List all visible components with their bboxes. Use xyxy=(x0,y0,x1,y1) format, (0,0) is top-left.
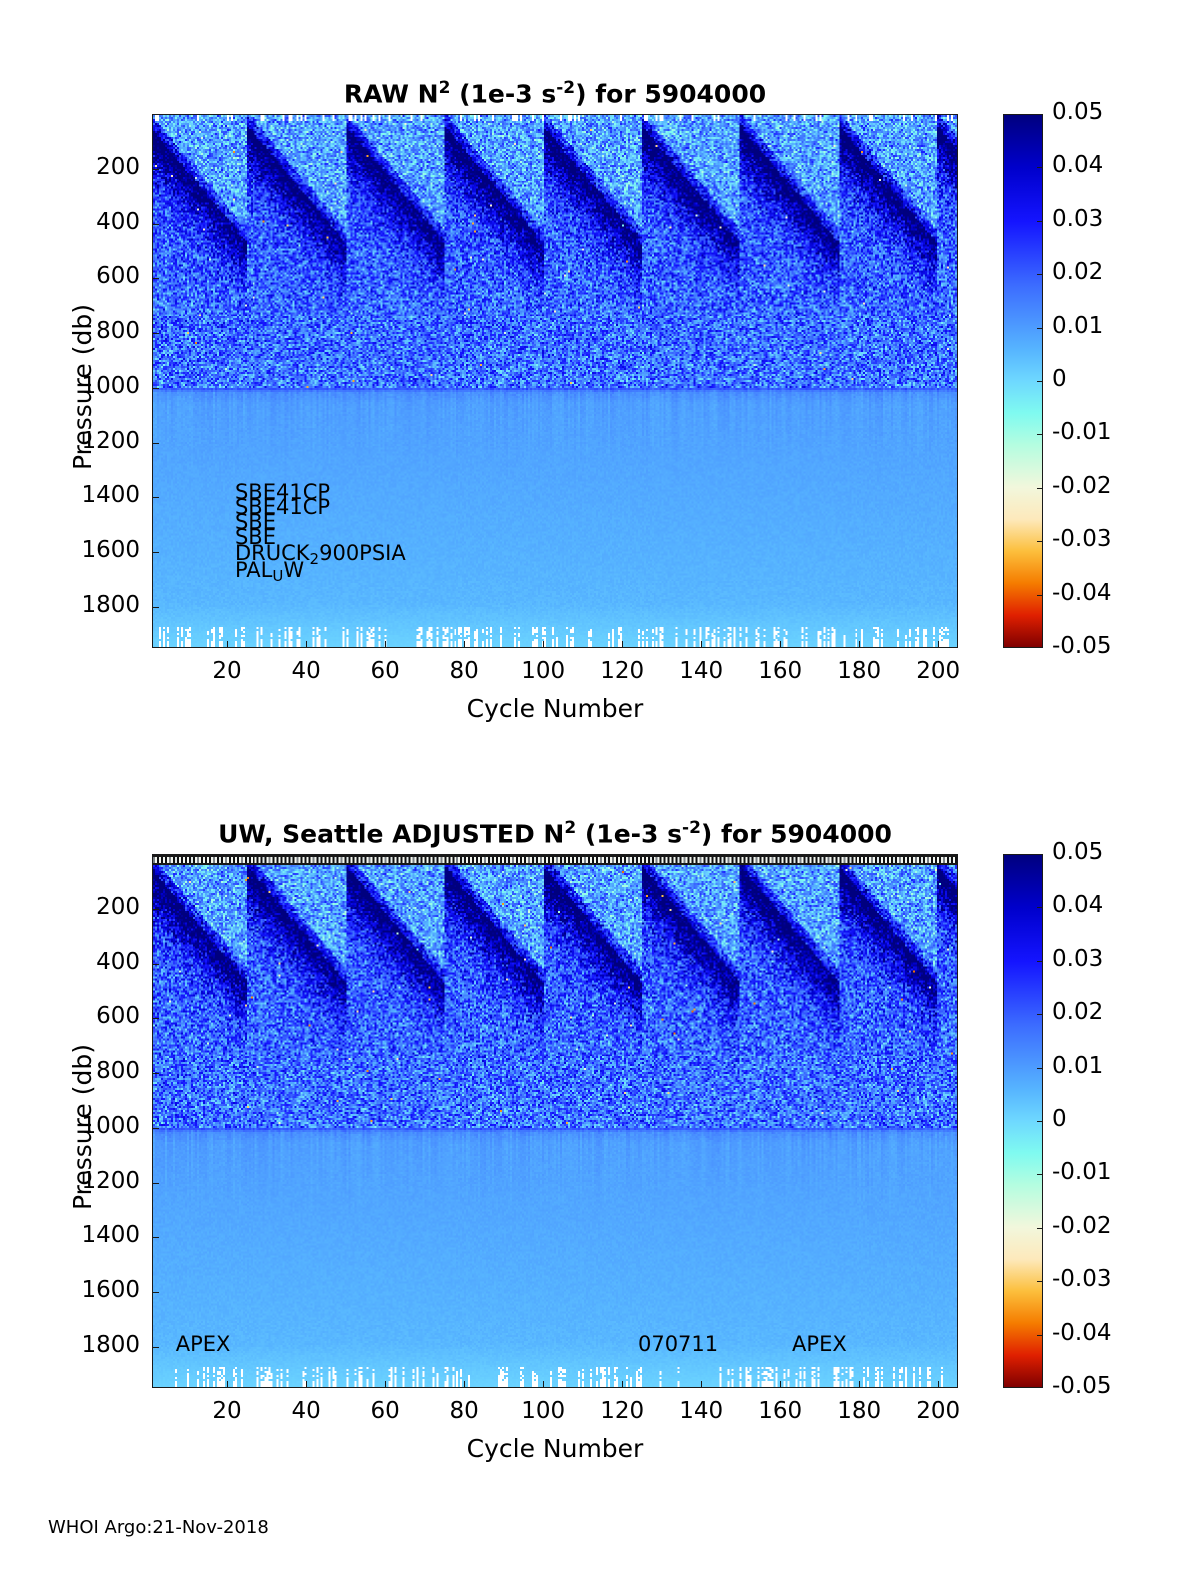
title-sup-n2: 2 xyxy=(439,78,451,98)
x-axis-tickmark xyxy=(227,1381,228,1388)
plot-annotation: PALUW xyxy=(235,558,304,585)
colorbar-tickmark xyxy=(1037,1121,1043,1122)
y-axis-tickmark xyxy=(152,1183,159,1184)
x-axis-label-raw: Cycle Number xyxy=(152,694,958,723)
title-tail: ) for 5904000 xyxy=(701,819,892,848)
colorbar-tickmark xyxy=(1037,488,1043,489)
x-axis-tickmark xyxy=(464,1381,465,1388)
annotation-text: 070711 xyxy=(638,1332,718,1356)
y-axis-tickmark xyxy=(152,964,159,965)
colorbar-tick-label: -0.01 xyxy=(1052,419,1112,445)
y-axis-tick-label: 1200 xyxy=(0,1168,140,1194)
annotation-text: APEX xyxy=(176,1332,231,1356)
colorbar-tick-label: 0.04 xyxy=(1052,892,1103,918)
heatmap-canvas-adjusted xyxy=(153,855,957,1387)
annotation-text: PAL xyxy=(235,558,272,582)
annotation-subscript: 2 xyxy=(310,550,320,568)
y-axis-tickmark xyxy=(152,388,159,389)
plot-annotation: APEX xyxy=(792,1332,847,1356)
y-axis-tickmark xyxy=(152,278,159,279)
plot-title-adjusted: UW, Seattle ADJUSTED N2 (1e-3 s-2) for 5… xyxy=(152,818,958,848)
x-axis-tickmark xyxy=(543,641,544,648)
colorbar-tick-label: -0.04 xyxy=(1052,1320,1112,1346)
y-axis-tick-label: 600 xyxy=(0,1003,140,1029)
annotation-tail: 900PSIA xyxy=(319,541,406,565)
x-axis-tickmark xyxy=(701,1381,702,1388)
colorbar-tickmark xyxy=(1037,1228,1043,1229)
colorbar-tickmark xyxy=(1037,595,1043,596)
x-axis-tickmark xyxy=(780,1381,781,1388)
x-axis-tickmark xyxy=(701,641,702,648)
panel-adjusted: UW, Seattle ADJUSTED N2 (1e-3 s-2) for 5… xyxy=(0,740,1200,1500)
x-axis-label-adjusted: Cycle Number xyxy=(152,1434,958,1463)
y-axis-tick-label: 1400 xyxy=(0,1222,140,1248)
title-sup-s2: -2 xyxy=(556,78,575,98)
y-axis-tick-label: 400 xyxy=(0,209,140,235)
annotation-subscript: U xyxy=(272,566,283,584)
x-axis-tickmark xyxy=(780,641,781,648)
title-tail: ) for 5904000 xyxy=(575,79,766,108)
x-axis-tickmark xyxy=(622,641,623,648)
colorbar-tick-label: -0.02 xyxy=(1052,1213,1112,1239)
y-axis-tick-label: 800 xyxy=(0,318,140,344)
colorbar-tickmark xyxy=(1037,541,1043,542)
x-axis-tickmark xyxy=(938,1381,939,1388)
y-axis-tick-label: 400 xyxy=(0,949,140,975)
y-axis-tickmark xyxy=(152,1347,159,1348)
x-axis-tickmark xyxy=(938,641,939,648)
colorbar-tick-label: 0.04 xyxy=(1052,152,1103,178)
y-axis-tick-label: 200 xyxy=(0,154,140,180)
title-main: RAW N xyxy=(344,79,439,108)
y-axis-tickmark xyxy=(152,443,159,444)
colorbar-tick-label: 0 xyxy=(1052,366,1067,392)
y-axis-tickmark xyxy=(152,224,159,225)
colorbar-tickmark xyxy=(1037,274,1043,275)
plot-annotation: 070711 xyxy=(638,1332,718,1356)
plot-title-raw: RAW N2 (1e-3 s-2) for 5904000 xyxy=(152,78,958,108)
x-axis-tick-label: 200 xyxy=(888,1398,988,1424)
title-mid: (1e-3 s xyxy=(576,819,682,848)
footer-credit: WHOI Argo:21-Nov-2018 xyxy=(48,1517,269,1538)
colorbar-tick-label: -0.04 xyxy=(1052,580,1112,606)
y-axis-tickmark xyxy=(152,169,159,170)
annotation-text: APEX xyxy=(792,1332,847,1356)
colorbar-tickmark xyxy=(1037,1068,1043,1069)
y-axis-tick-label: 600 xyxy=(0,263,140,289)
y-axis-tick-label: 1600 xyxy=(0,1277,140,1303)
colorbar-tick-label: -0.02 xyxy=(1052,473,1112,499)
x-axis-tickmark xyxy=(543,1381,544,1388)
y-axis-tick-label: 1800 xyxy=(0,592,140,618)
colorbar-tickmark xyxy=(1037,961,1043,962)
colorbar-tick-label: 0.02 xyxy=(1052,999,1103,1025)
y-axis-tick-label: 1400 xyxy=(0,482,140,508)
colorbar-tickmark xyxy=(1037,1014,1043,1015)
colorbar-tickmark xyxy=(1037,1174,1043,1175)
colorbar-tickmark xyxy=(1037,167,1043,168)
x-axis-tickmark xyxy=(306,1381,307,1388)
colorbar-tickmark xyxy=(1037,381,1043,382)
y-axis-tick-label: 1200 xyxy=(0,428,140,454)
x-axis-tickmark xyxy=(622,1381,623,1388)
colorbar-tickmark xyxy=(1037,221,1043,222)
colorbar-tickmark xyxy=(1037,328,1043,329)
y-axis-tickmark xyxy=(152,1128,159,1129)
x-axis-tickmark xyxy=(464,641,465,648)
colorbar-tick-label: 0.01 xyxy=(1052,313,1103,339)
y-axis-tick-label: 1000 xyxy=(0,373,140,399)
x-axis-tickmark xyxy=(385,1381,386,1388)
colorbar-tickmark xyxy=(1037,434,1043,435)
y-axis-tickmark xyxy=(152,607,159,608)
y-axis-tick-label: 200 xyxy=(0,894,140,920)
title-main: UW, Seattle ADJUSTED N xyxy=(218,819,564,848)
colorbar-tickmark xyxy=(1037,1335,1043,1336)
colorbar-tick-label: -0.03 xyxy=(1052,1266,1112,1292)
colorbar-tickmark xyxy=(1037,1281,1043,1282)
colorbar-tick-label: -0.03 xyxy=(1052,526,1112,552)
y-axis-tickmark xyxy=(152,909,159,910)
y-axis-tickmark xyxy=(152,1018,159,1019)
y-axis-tickmark xyxy=(152,1292,159,1293)
annotation-tail: W xyxy=(283,558,304,582)
colorbar-tick-label: 0.03 xyxy=(1052,206,1103,232)
colorbar-tick-label: 0.01 xyxy=(1052,1053,1103,1079)
colorbar-tick-label: 0.05 xyxy=(1052,839,1103,865)
y-axis-tickmark xyxy=(152,333,159,334)
y-axis-tickmark xyxy=(152,1073,159,1074)
y-axis-tick-label: 1800 xyxy=(0,1332,140,1358)
y-axis-tick-label: 1000 xyxy=(0,1113,140,1139)
colorbar-tick-label: -0.01 xyxy=(1052,1159,1112,1185)
x-axis-tickmark xyxy=(306,641,307,648)
colorbar-tick-label: -0.05 xyxy=(1052,1373,1112,1399)
colorbar-tick-label: 0.03 xyxy=(1052,946,1103,972)
y-axis-tickmark xyxy=(152,1237,159,1238)
x-axis-tickmark xyxy=(859,641,860,648)
title-sup-s2: -2 xyxy=(682,818,701,838)
title-sup-n2: 2 xyxy=(564,818,576,838)
y-axis-tick-label: 1600 xyxy=(0,537,140,563)
colorbar-tickmark xyxy=(1037,907,1043,908)
colorbar-tick-label: 0 xyxy=(1052,1106,1067,1132)
panel-raw: RAW N2 (1e-3 s-2) for 5904000 Pressure (… xyxy=(0,0,1200,760)
y-axis-tick-label: 800 xyxy=(0,1058,140,1084)
title-mid: (1e-3 s xyxy=(450,79,556,108)
colorbar-tick-label: 0.02 xyxy=(1052,259,1103,285)
heatmap-axes-adjusted xyxy=(152,854,958,1388)
plot-annotation: APEX xyxy=(176,1332,231,1356)
x-axis-tickmark xyxy=(227,641,228,648)
y-axis-tickmark xyxy=(152,552,159,553)
x-axis-tickmark xyxy=(859,1381,860,1388)
x-axis-tick-label: 200 xyxy=(888,658,988,684)
colorbar-tick-label: 0.05 xyxy=(1052,99,1103,125)
x-axis-tickmark xyxy=(385,641,386,648)
colorbar-tick-label: -0.05 xyxy=(1052,633,1112,659)
y-axis-tickmark xyxy=(152,497,159,498)
